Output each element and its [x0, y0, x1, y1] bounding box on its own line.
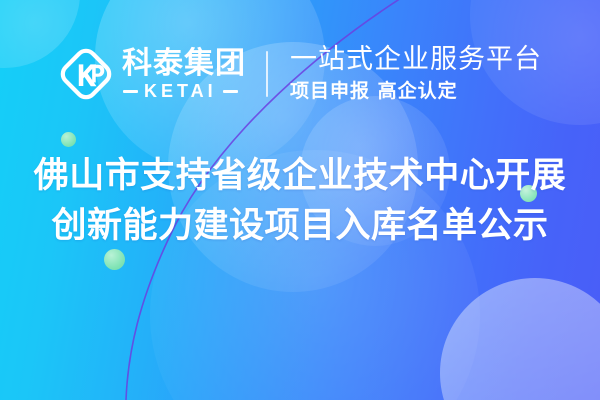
decorative-dot-green-1: [61, 132, 76, 147]
page-title-line-1: 佛山市支持省级企业技术中心开展: [0, 152, 600, 202]
decorative-dot-green-2: [104, 249, 125, 270]
slogan-main-text: 一站式企业服务平台: [290, 45, 542, 75]
page-title: 佛山市支持省级企业技术中心开展 创新能力建设项目入库名单公示: [0, 152, 600, 251]
slogan-sub-text: 项目申报 高企认定: [290, 80, 542, 103]
logo-company-name-en: KETAI: [144, 82, 217, 100]
logo-english-row: KETAI: [122, 82, 246, 100]
logo-company-name-cn: 科泰集团: [122, 48, 246, 80]
banner-header: 科泰集团 KETAI 一站式企业服务平台 项目申报 高企认定: [0, 38, 600, 110]
kp-diamond-icon: [56, 44, 116, 104]
logo-dash-right: [223, 90, 238, 93]
logo-wordmark: 科泰集团 KETAI: [122, 48, 246, 101]
logo-dash-left: [123, 90, 138, 93]
slogan-block: 一站式企业服务平台 项目申报 高企认定: [290, 45, 542, 103]
header-divider: [266, 51, 268, 97]
announcement-banner: 科泰集团 KETAI 一站式企业服务平台 项目申报 高企认定 佛山市支持省级企业…: [0, 0, 600, 400]
page-title-line-2: 创新能力建设项目入库名单公示: [0, 202, 600, 252]
company-logo[interactable]: 科泰集团 KETAI: [56, 44, 246, 104]
decorative-circle-bottom-right: [440, 278, 600, 400]
